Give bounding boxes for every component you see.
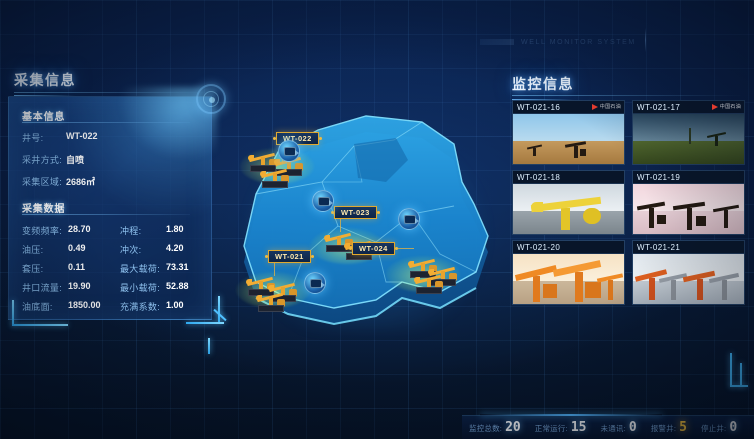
header-divider	[645, 28, 646, 52]
bracket-bottom-right-deco	[186, 296, 230, 336]
pumpjack-icon	[553, 258, 603, 302]
watermark-logo: 中国石油	[592, 103, 621, 110]
basic-info-rule	[22, 122, 190, 123]
status-normal-running-value: 15	[571, 421, 587, 434]
status-no-communication-value: 0	[629, 421, 637, 434]
field-fullness-coefficient-value: 1.00	[166, 300, 184, 310]
pumpjack-icon	[531, 196, 603, 230]
corner-bracket-deco	[722, 353, 750, 409]
status-no-communication: 未通讯: 0	[594, 421, 644, 434]
camera-node-icon[interactable]	[312, 190, 334, 212]
status-alarm-wells-value: 5	[679, 421, 687, 434]
camera-tile-wt-021-17[interactable]: WT-021-17 中国石油	[632, 100, 745, 165]
camera-tile-wt-021-20[interactable]: WT-021-20	[512, 240, 625, 305]
camera-feed	[633, 184, 744, 234]
camera-tile-wt-021-19[interactable]: WT-021-19	[632, 170, 745, 235]
field-wellhead-flow-value: 19.90	[68, 281, 91, 291]
camera-node-icon[interactable]	[278, 140, 300, 162]
status-total-monitored-label: 监控总数:	[469, 423, 502, 434]
camera-feed	[513, 184, 624, 234]
status-bar: 监控总数: 20 正常运行: 15 未通讯: 0 报警井: 5 停止井: 0	[462, 415, 754, 439]
field-stroke-rate-value: 4.20	[166, 243, 184, 253]
collection-info-title: 采集信息	[14, 70, 76, 90]
pumpjack-icon	[260, 168, 290, 188]
field-extraction-method-value: 自喷	[66, 153, 84, 166]
field-collection-area-label: 采集区域:	[22, 175, 62, 188]
field-fullness-coefficient-label: 充满系数:	[120, 300, 160, 313]
marker-leader-line	[396, 248, 414, 249]
camera-tile-wt-021-21[interactable]: WT-021-21	[632, 240, 745, 305]
field-stroke-length-label: 冲程:	[120, 224, 141, 237]
monitoring-info-title: 监控信息	[512, 74, 574, 94]
field-frequency-value: 28.70	[68, 224, 91, 234]
camera-feed	[513, 254, 624, 304]
camera-node-icon[interactable]	[398, 208, 420, 230]
pumpjack-icon	[709, 270, 741, 300]
status-no-communication-label: 未通讯:	[601, 423, 626, 434]
camera-tile-wt-021-18[interactable]: WT-021-18	[512, 170, 625, 235]
field-oil-pressure-value: 0.49	[68, 243, 86, 253]
collection-data-rule	[22, 214, 190, 215]
field-max-load-value: 73.31	[166, 262, 189, 272]
well-label-wt-024[interactable]: WT-024	[352, 242, 395, 255]
oilfield-map[interactable]: WT-022 WT-023 WT-021	[226, 86, 506, 346]
pumpjack-icon	[565, 140, 587, 158]
pumpjack-icon	[256, 292, 286, 312]
camera-label: WT-021-18	[513, 171, 624, 184]
camera-grid: WT-021-16 中国石油 WT-021-17	[512, 100, 746, 305]
field-collection-area-value: 2686㎡	[66, 175, 95, 188]
field-stroke-length-value: 1.80	[166, 224, 184, 234]
bracket-bottom-left-deco	[12, 300, 78, 334]
camera-label: WT-021-20	[513, 241, 624, 254]
well-label-wt-021[interactable]: WT-021	[268, 250, 311, 263]
pumpjack-icon	[527, 144, 543, 156]
status-alarm-wells-label: 报警井:	[651, 423, 676, 434]
watermark-logo: 中国石油	[712, 103, 741, 110]
camera-feed	[513, 114, 624, 164]
camera-label: WT-021-19	[633, 171, 744, 184]
monitoring-info-rule	[512, 95, 744, 96]
header-bar-deco	[480, 39, 514, 45]
petro-logo-icon	[712, 104, 718, 110]
pumpjack-icon	[673, 198, 707, 230]
status-stopped-wells-value: 0	[729, 421, 737, 434]
pumpjack-icon	[707, 132, 727, 146]
status-stopped-wells: 停止井: 0	[694, 421, 744, 434]
status-alarm-wells: 报警井: 5	[644, 421, 694, 434]
pumpjack-icon	[637, 198, 667, 228]
collection-data-heading: 采集数据	[22, 200, 65, 215]
basic-info-heading: 基本信息	[22, 108, 65, 123]
field-well-number-value: WT-022	[66, 131, 98, 141]
camera-label: WT-021-21	[633, 241, 744, 254]
header-watermark: WELL MONITOR SYSTEM	[480, 34, 650, 50]
tower-icon	[689, 128, 691, 144]
status-total-monitored: 监控总数: 20	[462, 421, 528, 434]
pumpjack-icon	[713, 202, 741, 228]
camera-node-icon[interactable]	[304, 272, 326, 294]
pumpjack-icon	[597, 270, 624, 300]
field-extraction-method-label: 采井方式:	[22, 153, 62, 166]
well-label-wt-023[interactable]: WT-023	[334, 206, 377, 219]
field-max-load-label: 最大载荷:	[120, 262, 160, 275]
header-ghost-label: WELL MONITOR SYSTEM	[521, 39, 636, 46]
pumpjack-icon	[414, 274, 444, 294]
field-casing-pressure-label: 套压:	[22, 262, 43, 275]
field-min-load-value: 52.88	[166, 281, 189, 291]
camera-tile-wt-021-16[interactable]: WT-021-16 中国石油	[512, 100, 625, 165]
panel-ring-icon	[196, 84, 226, 114]
field-frequency-label: 变频频率:	[22, 224, 62, 237]
petro-logo-icon	[592, 104, 598, 110]
status-normal-running: 正常运行: 15	[528, 421, 594, 434]
bracket-tail-deco	[196, 338, 222, 356]
field-min-load-label: 最小载荷:	[120, 281, 160, 294]
field-stroke-rate-label: 冲次:	[120, 243, 141, 256]
status-stopped-wells-label: 停止井:	[701, 423, 726, 434]
status-normal-running-label: 正常运行:	[535, 423, 568, 434]
collection-info-rule	[14, 92, 210, 93]
field-casing-pressure-value: 0.11	[68, 262, 85, 272]
status-total-monitored-value: 20	[505, 421, 521, 434]
field-oil-pressure-label: 油压:	[22, 243, 43, 256]
field-well-number-label: 井号:	[22, 131, 43, 144]
field-wellhead-flow-label: 井口流量:	[22, 281, 62, 294]
camera-feed	[633, 254, 744, 304]
camera-feed	[633, 114, 744, 164]
